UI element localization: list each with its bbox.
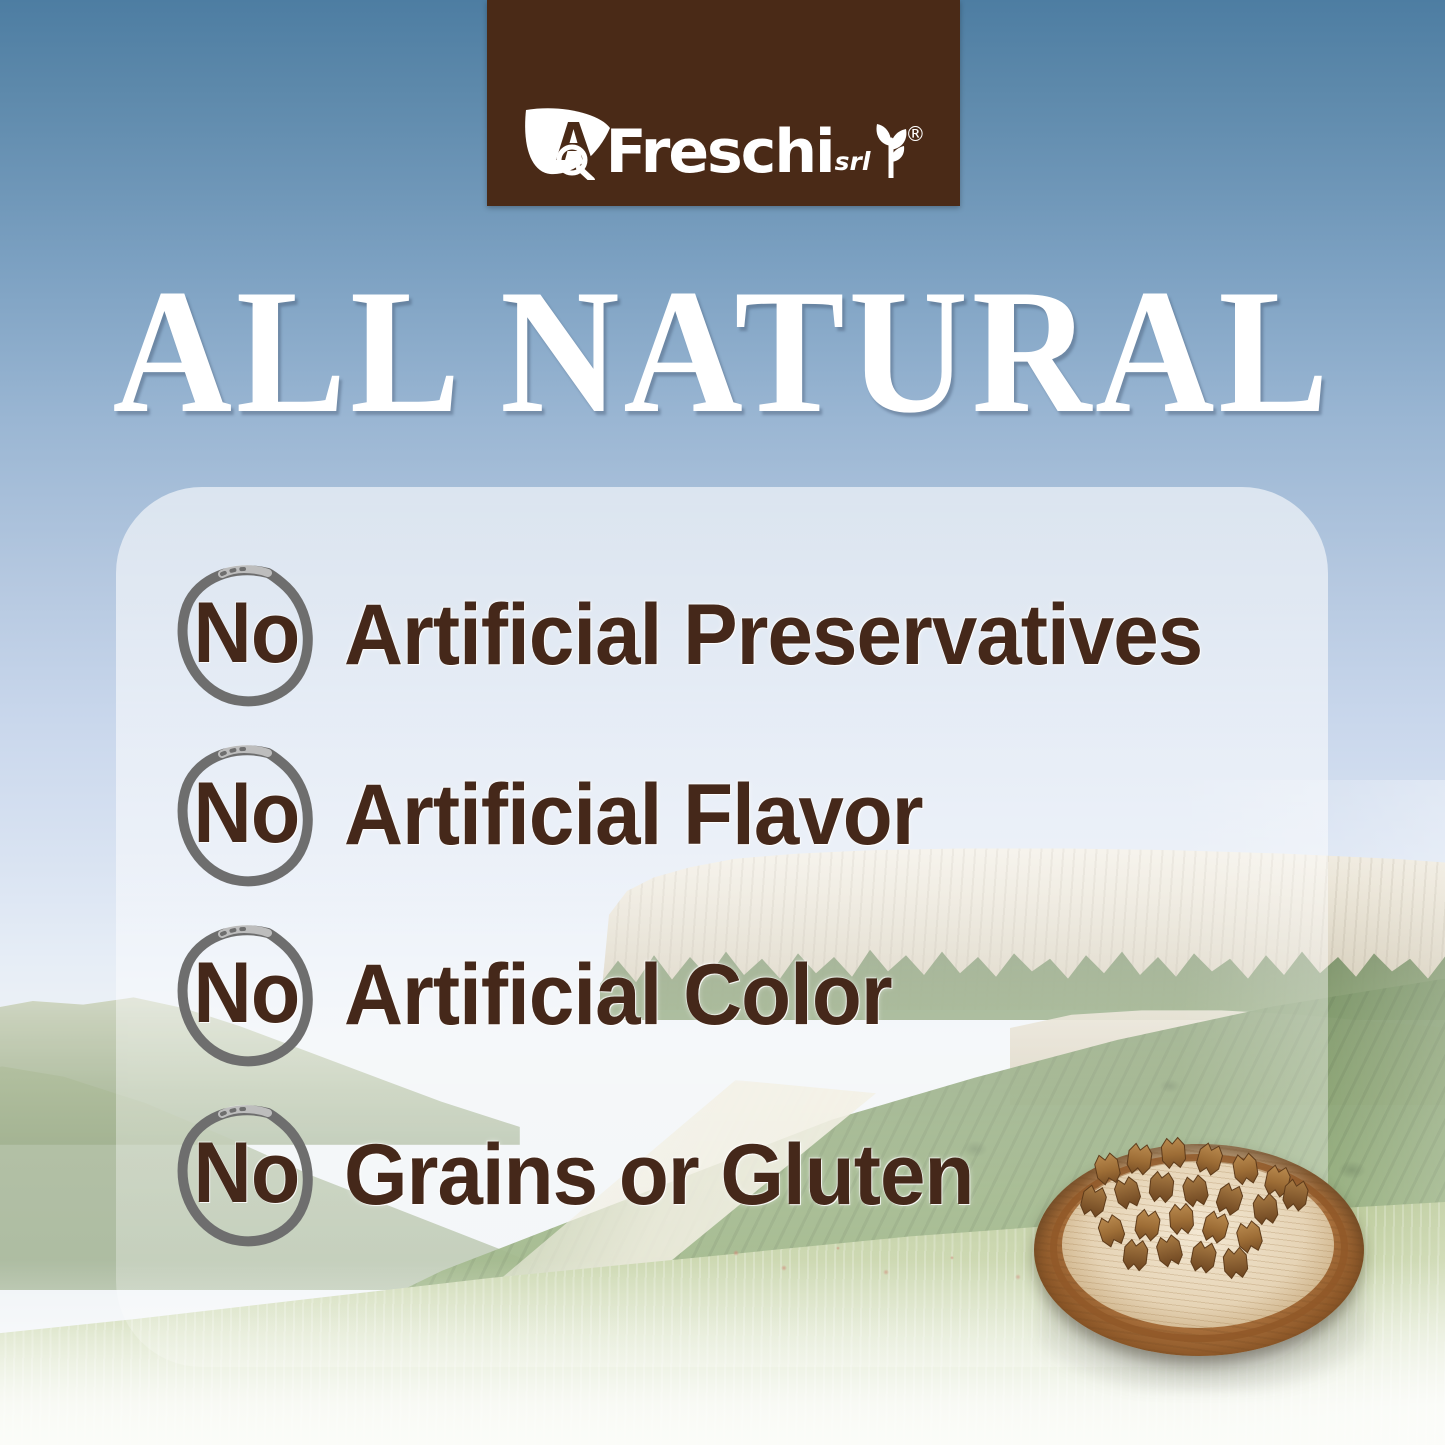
list-item: No Artificial Preservatives — [172, 545, 1372, 725]
no-label: No — [193, 944, 299, 1043]
product-image — [1014, 1122, 1384, 1402]
brand-name: Freschi — [606, 125, 834, 180]
list-item: No Artificial Color — [172, 905, 1372, 1085]
dog-treats-icon — [1058, 1132, 1338, 1302]
no-label: No — [193, 584, 299, 683]
no-badge: No — [172, 560, 320, 710]
claim-label: Artificial Color — [344, 946, 892, 1045]
leaf-magnifier-a-icon — [522, 104, 614, 180]
claim-label: Artificial Preservatives — [344, 586, 1202, 685]
sprout-plant-icon — [871, 120, 911, 178]
no-label: No — [193, 1124, 299, 1223]
brand-logo: Freschi srl ® — [487, 104, 960, 180]
page-title: ALL NATURAL — [51, 262, 1395, 440]
brand-bar: Freschi srl ® — [487, 0, 960, 206]
no-badge: No — [172, 1100, 320, 1250]
no-badge: No — [172, 740, 320, 890]
claim-label: Artificial Flavor — [344, 766, 923, 865]
no-label: No — [193, 764, 299, 863]
no-badge: No — [172, 920, 320, 1070]
list-item: No Artificial Flavor — [172, 725, 1372, 905]
brand-suffix: srl — [835, 147, 871, 176]
claim-label: Grains or Gluten — [344, 1126, 973, 1225]
product-feature-banner: Freschi srl ® ALL NATURAL — [0, 0, 1445, 1445]
